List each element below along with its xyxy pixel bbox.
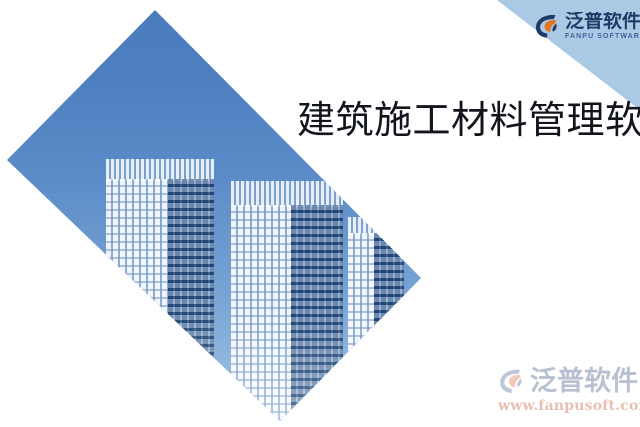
skyscraper-far-right-dark-face	[374, 233, 404, 427]
skyscraper-right	[231, 181, 343, 427]
skyscraper-right-dark-face	[291, 205, 343, 427]
brand-name-en: FANPU SOFTWARE	[565, 33, 640, 40]
watermark-fanpu-logo-icon	[498, 366, 525, 396]
skyscraper-right-light-face	[231, 205, 291, 427]
skyscraper-far-right-light-face	[348, 233, 374, 427]
brand-name-cn: 泛普软件	[565, 12, 640, 31]
skyscraper-left	[106, 159, 214, 427]
slide-canvas: 泛普软件 FANPU SOFTWARE 建筑施工材料管理软件 泛普软件 www.…	[0, 0, 640, 427]
blue-diamond-panel	[0, 0, 640, 427]
skyscraper-far-right	[348, 217, 404, 427]
skyscraper-left-light-face	[106, 179, 168, 427]
fanpu-logo-icon	[534, 13, 560, 39]
page-title: 建筑施工材料管理软件	[297, 98, 640, 142]
skyscraper-right-crown	[231, 181, 343, 207]
watermark-logo: 泛普软件 www.fanpusoft.com	[498, 366, 638, 414]
skyscraper-left-dark-face	[168, 179, 214, 427]
watermark-brand-name: 泛普软件	[530, 368, 638, 395]
skyscraper-left-crown	[106, 159, 214, 181]
brand-logo: 泛普软件 FANPU SOFTWARE	[534, 12, 640, 40]
watermark-url: www.fanpusoft.com	[498, 398, 638, 414]
